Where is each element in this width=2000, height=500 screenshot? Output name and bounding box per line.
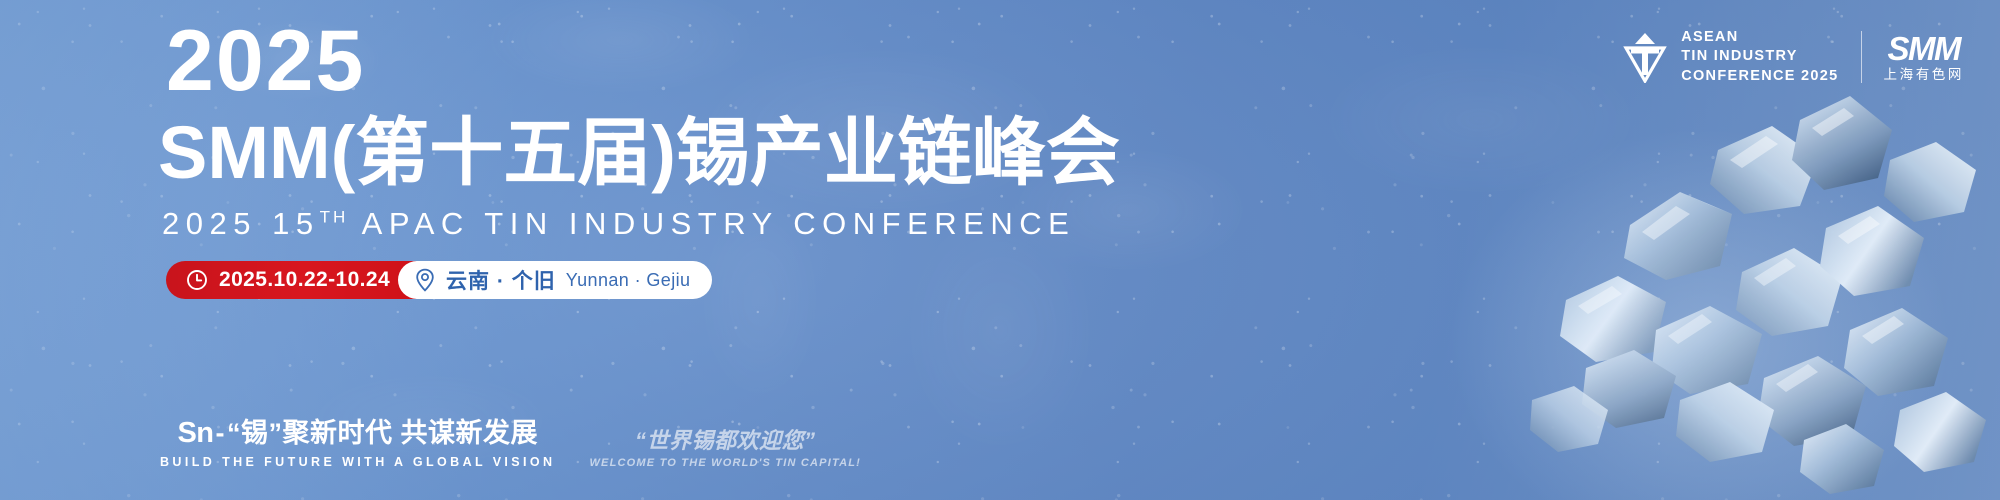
logo-divider [1861,31,1862,83]
conference-banner: ASEAN TIN INDUSTRY CONFERENCE 2025 SMM 上… [0,0,2000,500]
conference-title-en: 2025 15TH APAC TIN INDUSTRY CONFERENCE [162,208,1120,239]
logo-bar: ASEAN TIN INDUSTRY CONFERENCE 2025 SMM 上… [1622,24,1964,90]
asean-logo: ASEAN TIN INDUSTRY CONFERENCE 2025 [1622,28,1838,86]
main-slogan-cn: Sn - “锡”聚新时代 共谋新发展 [177,418,538,449]
asean-line-1: ASEAN [1681,28,1838,47]
title-en-prefix: 2025 15 [162,206,320,241]
asean-line-2: TIN INDUSTRY [1681,47,1838,66]
asean-logo-text: ASEAN TIN INDUSTRY CONFERENCE 2025 [1681,28,1838,86]
main-slogan: Sn - “锡”聚新时代 共谋新发展 BUILD THE FUTURE WITH… [160,418,555,469]
location-badge[interactable]: 云南 · 个旧 Yunnan · Gejiu [398,261,712,299]
title-en-rest: APAC TIN INDUSTRY CONFERENCE [348,206,1075,241]
headline-block: 2025 SMM(第十五届)锡产业链峰会 2025 15TH APAC TIN … [158,18,1120,299]
event-meta-pills: 2025.10.22-10.24 云南 · 个旧 Yunnan · Gejiu [166,261,1120,299]
slogan-row: Sn - “锡”聚新时代 共谋新发展 BUILD THE FUTURE WITH… [160,418,861,469]
location-name-cn: 云南 · 个旧 [446,265,556,295]
welcome-slogan: “世界锡都欢迎您” WELCOME TO THE WORLD'S TIN CAP… [589,429,861,469]
date-badge-text: 2025.10.22-10.24 [219,268,390,292]
title-en-ordinal-suffix: TH [320,208,349,227]
tin-symbol: Sn [177,418,213,449]
ore-glow [1440,120,1960,500]
date-badge[interactable]: 2025.10.22-10.24 [166,261,416,299]
location-pin-icon [414,268,436,292]
location-name-en: Yunnan · Gejiu [566,270,691,291]
asean-line-3: CONFERENCE 2025 [1681,67,1838,86]
asean-tin-diamond-icon [1622,31,1668,83]
main-slogan-en: BUILD THE FUTURE WITH A GLOBAL VISION [160,456,555,469]
welcome-slogan-en: WELCOME TO THE WORLD'S TIN CAPITAL! [589,458,861,469]
clock-icon [186,269,208,291]
smm-wordmark: SMM [1888,32,1961,65]
smm-logo: SMM 上海有色网 [1884,32,1965,82]
slogan-dash: - [216,419,226,448]
smm-chinese-name: 上海有色网 [1884,68,1965,82]
welcome-slogan-cn: “世界锡都欢迎您” [635,429,816,453]
conference-title-cn: SMM(第十五届)锡产业链峰会 [158,116,1120,190]
slogan-cn-text: “锡”聚新时代 共谋新发展 [227,419,538,448]
year-heading: 2025 [166,18,1120,104]
